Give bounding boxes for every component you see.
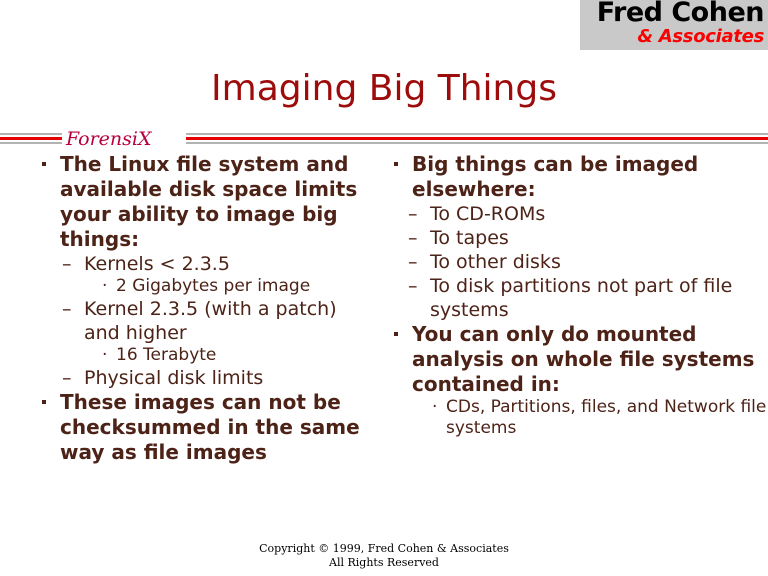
list-item: These images can not be checksummed in t… bbox=[30, 390, 378, 465]
list-item: Big things can be imaged elsewhere: bbox=[382, 152, 768, 202]
list-item-label: These images can not be checksummed in t… bbox=[60, 390, 360, 464]
page-title: Imaging Big Things bbox=[0, 68, 768, 109]
list-item-label: To tapes bbox=[430, 227, 509, 249]
dash-bullet-icon: – bbox=[408, 274, 418, 298]
dot-bullet-icon: · bbox=[102, 345, 107, 366]
list-item-label: To CD-ROMs bbox=[430, 203, 545, 225]
list-item-label: 2 Gigabytes per image bbox=[116, 276, 310, 296]
list-item-label: You can only do mounted analysis on whol… bbox=[412, 322, 754, 396]
list-item: –To tapes bbox=[382, 226, 768, 250]
divider-line-gray-bottom bbox=[0, 142, 62, 144]
list-item-label: To disk partitions not part of file syst… bbox=[430, 275, 732, 321]
bullet-list-left: The Linux file system and available disk… bbox=[30, 152, 378, 465]
list-item: –To disk partitions not part of file sys… bbox=[382, 274, 768, 322]
dash-bullet-icon: – bbox=[62, 366, 72, 390]
list-item: ·CDs, Partitions, files, and Network fil… bbox=[382, 397, 768, 439]
divider-line-gray-bottom bbox=[186, 142, 768, 144]
content-column-left: The Linux file system and available disk… bbox=[30, 152, 378, 465]
list-item-label: Big things can be imaged elsewhere: bbox=[412, 152, 698, 201]
list-item-label: Kernel 2.3.5 (with a patch) and higher bbox=[84, 298, 337, 344]
list-item: –To other disks bbox=[382, 250, 768, 274]
list-item-label: Physical disk limits bbox=[84, 367, 263, 389]
list-item-label: To other disks bbox=[430, 251, 561, 273]
list-item-label: Kernels < 2.3.5 bbox=[84, 253, 230, 275]
brand-tagline: & Associates bbox=[637, 26, 764, 47]
list-item: You can only do mounted analysis on whol… bbox=[382, 322, 768, 397]
divider-line-gray-top bbox=[186, 133, 768, 135]
dot-bullet-icon: · bbox=[432, 397, 437, 418]
brand-logo-box: Fred Cohen & Associates bbox=[580, 0, 768, 50]
dash-bullet-icon: – bbox=[408, 226, 418, 250]
dash-bullet-icon: – bbox=[62, 297, 72, 321]
list-item: –Physical disk limits bbox=[30, 366, 378, 390]
list-item-label: CDs, Partitions, files, and Network file… bbox=[446, 397, 766, 438]
divider-rule-left bbox=[0, 133, 62, 144]
list-item: –Kernel 2.3.5 (with a patch) and higher bbox=[30, 297, 378, 345]
content-column-right: Big things can be imaged elsewhere:–To C… bbox=[382, 152, 768, 439]
square-bullet-icon bbox=[394, 332, 398, 336]
divider-line-accent bbox=[0, 137, 62, 140]
divider-line-gray-top bbox=[0, 133, 62, 135]
footer-copyright-line: Copyright © 1999, Fred Cohen & Associate… bbox=[0, 542, 768, 556]
dash-bullet-icon: – bbox=[408, 250, 418, 274]
list-item: –Kernels < 2.3.5 bbox=[30, 252, 378, 276]
bullet-list-right: Big things can be imaged elsewhere:–To C… bbox=[382, 152, 768, 439]
square-bullet-icon bbox=[42, 162, 46, 166]
square-bullet-icon bbox=[394, 162, 398, 166]
dot-bullet-icon: · bbox=[102, 276, 107, 297]
list-item: ·16 Terabyte bbox=[30, 345, 378, 366]
brand-company-name: Fred Cohen bbox=[597, 0, 764, 28]
square-bullet-icon bbox=[42, 400, 46, 404]
brand-forensix-label: ForensiX bbox=[66, 128, 152, 150]
header-divider: ForensiX bbox=[0, 128, 768, 150]
dash-bullet-icon: – bbox=[408, 202, 418, 226]
footer-rights-line: All Rights Reserved bbox=[0, 556, 768, 570]
list-item: ·2 Gigabytes per image bbox=[30, 276, 378, 297]
divider-line-accent bbox=[186, 137, 768, 140]
dash-bullet-icon: – bbox=[62, 252, 72, 276]
list-item: –To CD-ROMs bbox=[382, 202, 768, 226]
list-item: The Linux file system and available disk… bbox=[30, 152, 378, 252]
divider-rule-right bbox=[186, 133, 768, 144]
list-item-label: The Linux file system and available disk… bbox=[60, 152, 357, 251]
list-item-label: 16 Terabyte bbox=[116, 345, 216, 365]
footer: Copyright © 1999, Fred Cohen & Associate… bbox=[0, 542, 768, 570]
